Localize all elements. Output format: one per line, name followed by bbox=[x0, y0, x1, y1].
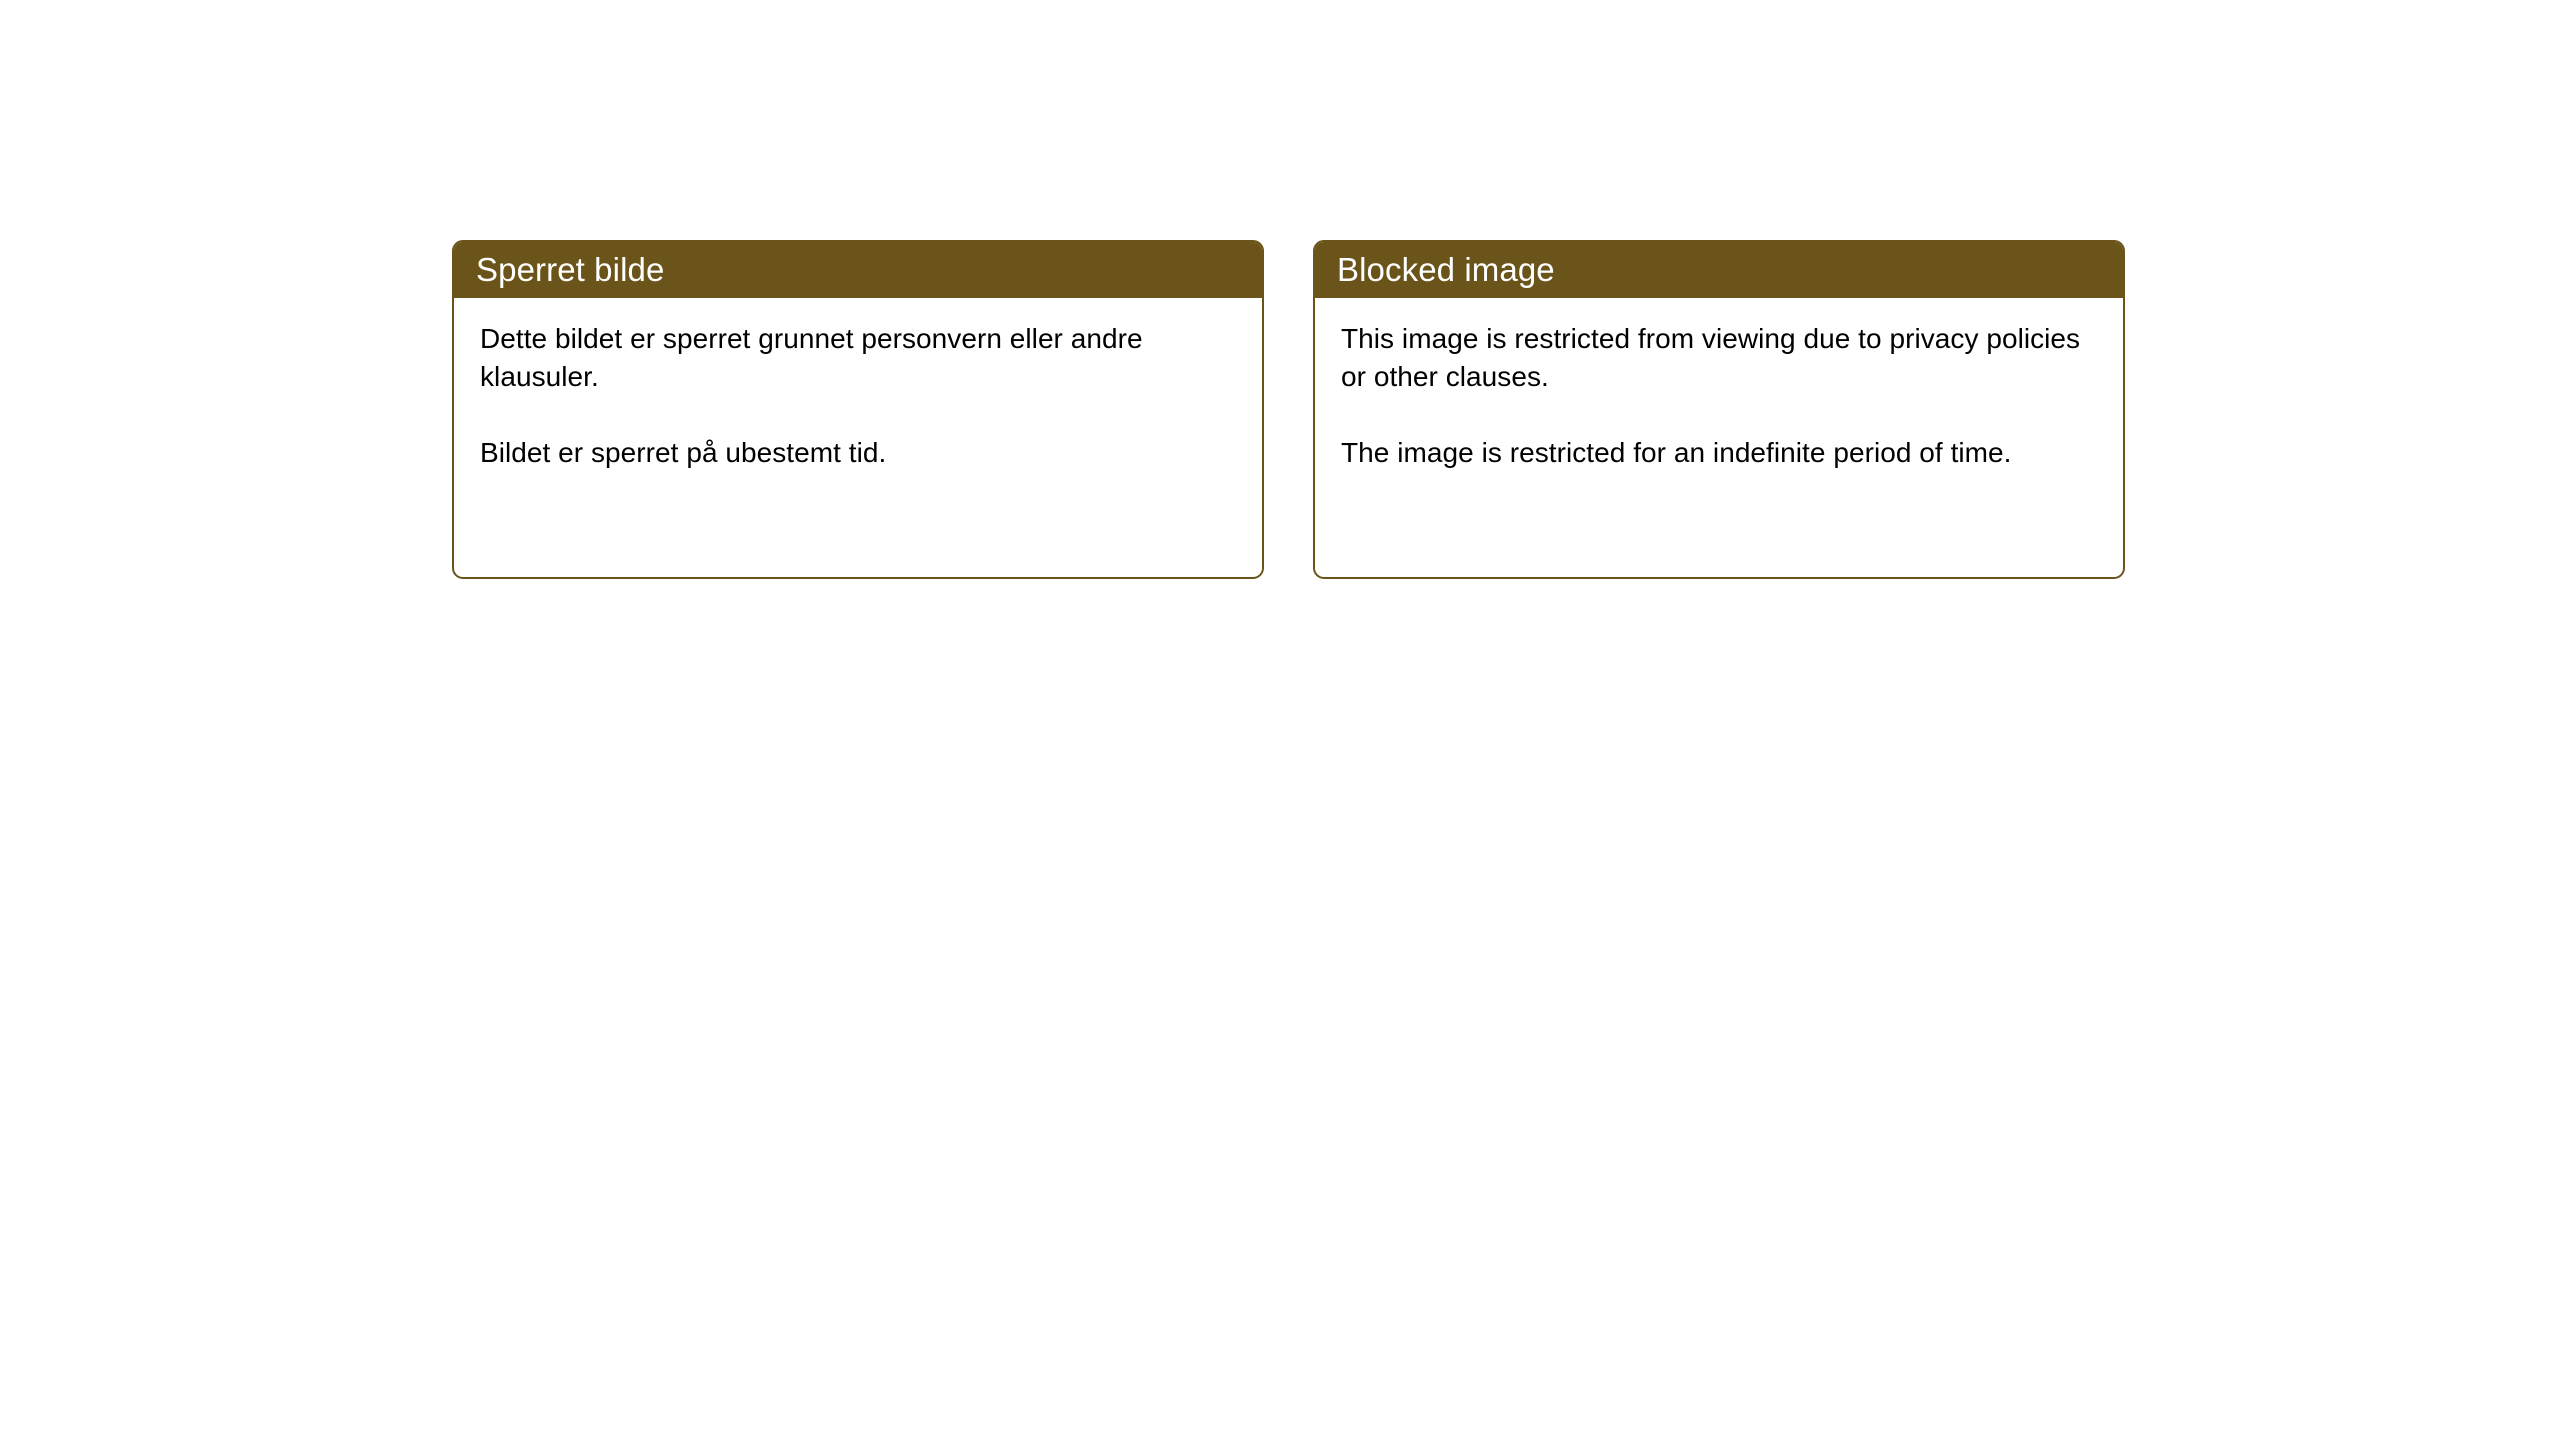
blocked-image-notice-group: Sperret bilde Dette bildet er sperret gr… bbox=[452, 240, 2125, 579]
blocked-image-card-norwegian: Sperret bilde Dette bildet er sperret gr… bbox=[452, 240, 1264, 579]
card-title-english: Blocked image bbox=[1337, 253, 1555, 286]
card-paragraph-primary-norwegian: Dette bildet er sperret grunnet personve… bbox=[480, 320, 1242, 396]
card-paragraph-primary-english: This image is restricted from viewing du… bbox=[1341, 320, 2103, 396]
card-paragraph-secondary-norwegian: Bildet er sperret på ubestemt tid. bbox=[480, 434, 1242, 472]
card-body-norwegian: Dette bildet er sperret grunnet personve… bbox=[454, 298, 1262, 577]
card-paragraph-secondary-english: The image is restricted for an indefinit… bbox=[1341, 434, 2103, 472]
card-body-english: This image is restricted from viewing du… bbox=[1315, 298, 2123, 577]
blocked-image-card-english: Blocked image This image is restricted f… bbox=[1313, 240, 2125, 579]
card-title-norwegian: Sperret bilde bbox=[476, 253, 664, 286]
card-header-norwegian: Sperret bilde bbox=[452, 240, 1264, 298]
card-header-english: Blocked image bbox=[1313, 240, 2125, 298]
